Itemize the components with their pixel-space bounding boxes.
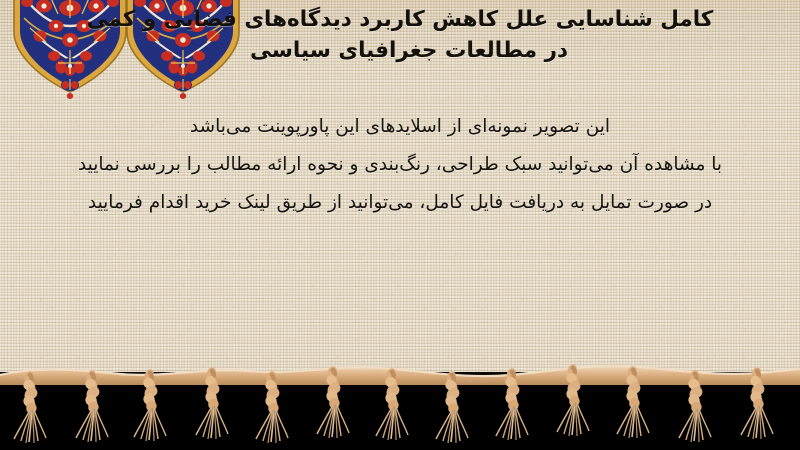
title-line-2: در مطالعات جغرافیای سیاسی [8,35,800,66]
title-line-1: کامل شناسایی علل کاهش کاربرد دیدگاه‌های … [8,4,792,35]
carpet-fringe-band [0,355,800,450]
slide-canvas: کامل شناسایی علل کاهش کاربرد دیدگاه‌های … [0,0,800,450]
slide-title: کامل شناسایی علل کاهش کاربرد دیدگاه‌های … [8,4,792,66]
body-line-2: با مشاهده آن می‌توانید سبک طراحی، رنگ‌بن… [18,146,782,184]
fringe-tassels-svg [0,355,800,450]
body-line-3: در صورت تمایل به دریافت فایل کامل، می‌تو… [18,184,782,222]
body-line-1: این تصویر نمونه‌ای از اسلایدهای این پاور… [18,108,782,146]
slide-body: این تصویر نمونه‌ای از اسلایدهای این پاور… [18,108,782,222]
